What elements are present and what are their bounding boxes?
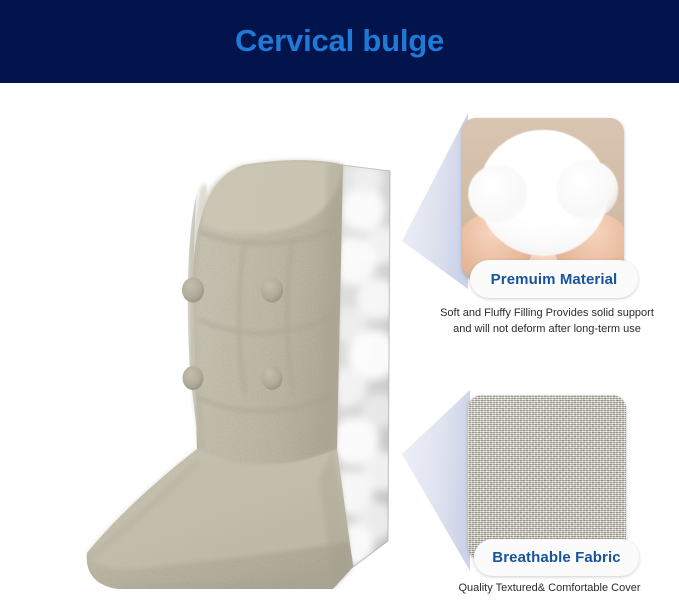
caption-line-1: Quality Textured& Comfortable Cover (420, 581, 679, 597)
tuft-button (262, 366, 283, 390)
tuft-button (261, 278, 283, 303)
feature-media-breathable-fabric (468, 395, 626, 560)
feature-card-premium-material[interactable]: Premuim Material (462, 118, 624, 280)
caption-line-1: Soft and Fluffy Filling Provides solid s… (415, 306, 679, 322)
connector-wedge-premium-material (400, 111, 470, 291)
caption-line-2: and will not deform after long-term use (415, 322, 679, 338)
fiberfill-cluster (478, 129, 608, 255)
fabric-swatch-photo (468, 395, 626, 560)
feature-label-text: Premuim Material (491, 271, 618, 288)
page-title: Cervical bulge (235, 25, 444, 56)
feature-label-text: Breathable Fabric (492, 549, 620, 566)
feature-media-premium-material (462, 118, 624, 280)
feature-label-pill-premium-material: Premuim Material (470, 260, 638, 298)
tuft-button (183, 366, 204, 390)
feature-card-breathable-fabric[interactable]: Breathable Fabric (468, 395, 626, 560)
feature-caption-premium-material: Soft and Fluffy Filling Provides solid s… (415, 306, 679, 338)
tuft-button (182, 278, 204, 303)
feature-caption-breathable-fabric: Quality Textured& Comfortable Cover (420, 581, 679, 597)
product-image-wedge-pillow (47, 149, 402, 589)
pillow-backrest (188, 160, 343, 472)
fiberfill-photo (462, 118, 624, 280)
header-banner: Cervical bulge (0, 0, 679, 83)
feature-label-pill-breathable-fabric: Breathable Fabric (474, 539, 639, 576)
connector-wedge-breathable-fabric (398, 388, 472, 573)
main-canvas: Premuim Material Soft and Fluffy Filling… (0, 83, 679, 605)
pillow-base (87, 449, 353, 589)
